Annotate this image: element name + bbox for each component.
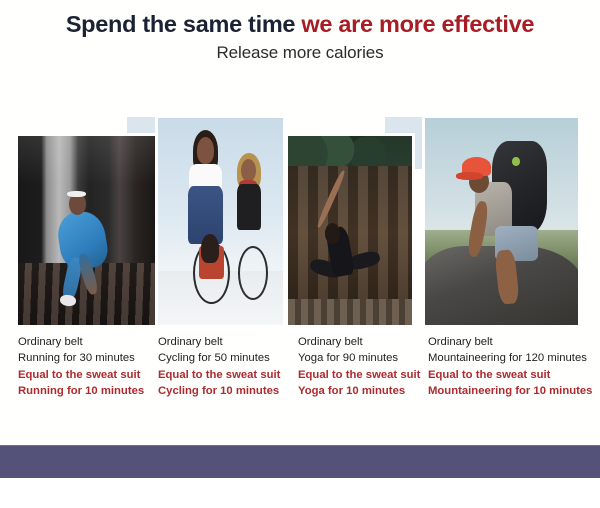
cycling-photo: [158, 118, 283, 325]
caption-mountaineering-line-4: Mountaineering for 10 minutes: [428, 383, 592, 399]
yoga-photo-head: [325, 223, 340, 244]
cycling-photo-rider-right-head: [241, 159, 256, 182]
caption-running-line-2: Running for 30 minutes: [18, 350, 144, 366]
cycling-photo-dog: [201, 234, 220, 263]
cycling-photo-rider-right-top: [237, 184, 261, 230]
caption-mountaineering: Ordinary belt Mountaineering for 120 min…: [428, 334, 592, 400]
caption-cycling-line-2: Cycling for 50 minutes: [158, 350, 280, 366]
mountaineering-photo-cap-brim: [456, 172, 484, 180]
caption-yoga-line-1: Ordinary belt: [298, 334, 420, 350]
caption-cycling-line-1: Ordinary belt: [158, 334, 280, 350]
caption-cycling: Ordinary belt Cycling for 50 minutes Equ…: [158, 334, 280, 400]
caption-yoga: Ordinary belt Yoga for 90 minutes Equal …: [298, 334, 420, 400]
caption-row: Ordinary belt Running for 30 minutes Equ…: [0, 334, 600, 414]
page-title-plain: Spend the same time: [66, 11, 302, 37]
cycling-photo-bicycle-right: [238, 246, 268, 300]
runner-photo: [18, 136, 155, 325]
page-title-accent: we are more effective: [301, 11, 534, 37]
caption-running-line-4: Running for 10 minutes: [18, 383, 144, 399]
header: Spend the same time we are more effectiv…: [0, 0, 600, 63]
caption-cycling-line-4: Cycling for 10 minutes: [158, 383, 280, 399]
footer-whitespace: [0, 478, 600, 508]
caption-yoga-line-3: Equal to the sweat suit: [298, 367, 420, 383]
slide-root: Spend the same time we are more effectiv…: [0, 0, 600, 508]
footer-bar: [0, 445, 600, 480]
caption-mountaineering-line-3: Equal to the sweat suit: [428, 367, 592, 383]
caption-cycling-line-3: Equal to the sweat suit: [158, 367, 280, 383]
caption-yoga-line-2: Yoga for 90 minutes: [298, 350, 420, 366]
page-title: Spend the same time we are more effectiv…: [0, 0, 600, 37]
page-subtitle: Release more calories: [0, 37, 600, 63]
caption-mountaineering-line-1: Ordinary belt: [428, 334, 592, 350]
caption-running-line-1: Ordinary belt: [18, 334, 144, 350]
caption-running: Ordinary belt Running for 30 minutes Equ…: [18, 334, 144, 400]
yoga-photo-deck: [288, 299, 412, 325]
mountaineering-photo-backpack-logo: [512, 157, 520, 165]
mountaineering-photo: [425, 118, 578, 325]
caption-mountaineering-line-2: Mountaineering for 120 minutes: [428, 350, 592, 366]
caption-running-line-3: Equal to the sweat suit: [18, 367, 144, 383]
caption-yoga-line-4: Yoga for 10 minutes: [298, 383, 420, 399]
yoga-photo: [288, 136, 412, 325]
photo-band: [0, 100, 600, 332]
cycling-photo-rider-left-head: [197, 137, 215, 164]
yoga-photo-hedge: [288, 136, 412, 166]
